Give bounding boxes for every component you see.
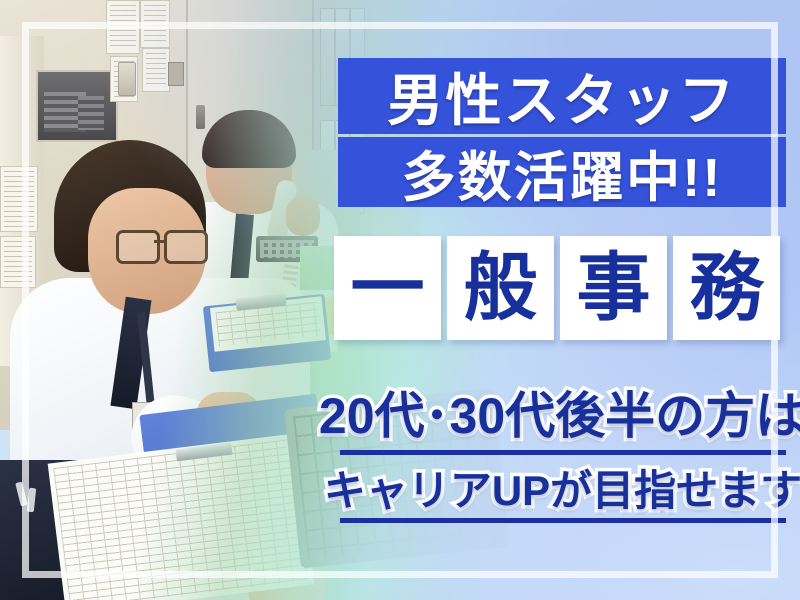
target-age-text: 20代･30代後半の方は [338,381,786,443]
job-title-tile: 務 [673,236,780,340]
headline-banner-line-1: 男性スタッフ [338,58,786,134]
job-title-tile: 事 [560,236,667,340]
career-up-text: キャリアUPが目指せます [338,458,788,516]
headline-banner-line-2: 多数活躍中!! [338,137,786,207]
divider-rule-bottom [340,518,786,523]
job-title-tile: 般 [447,236,554,340]
divider-rule-top [340,450,786,455]
job-title-tiles: 一 般 事 務 [334,236,780,340]
job-title-tile: 一 [334,236,441,340]
advertisement-banner: 男性スタッフ 多数活躍中!! 一 般 事 務 20代･30代後半の方は キャリア… [0,0,800,600]
